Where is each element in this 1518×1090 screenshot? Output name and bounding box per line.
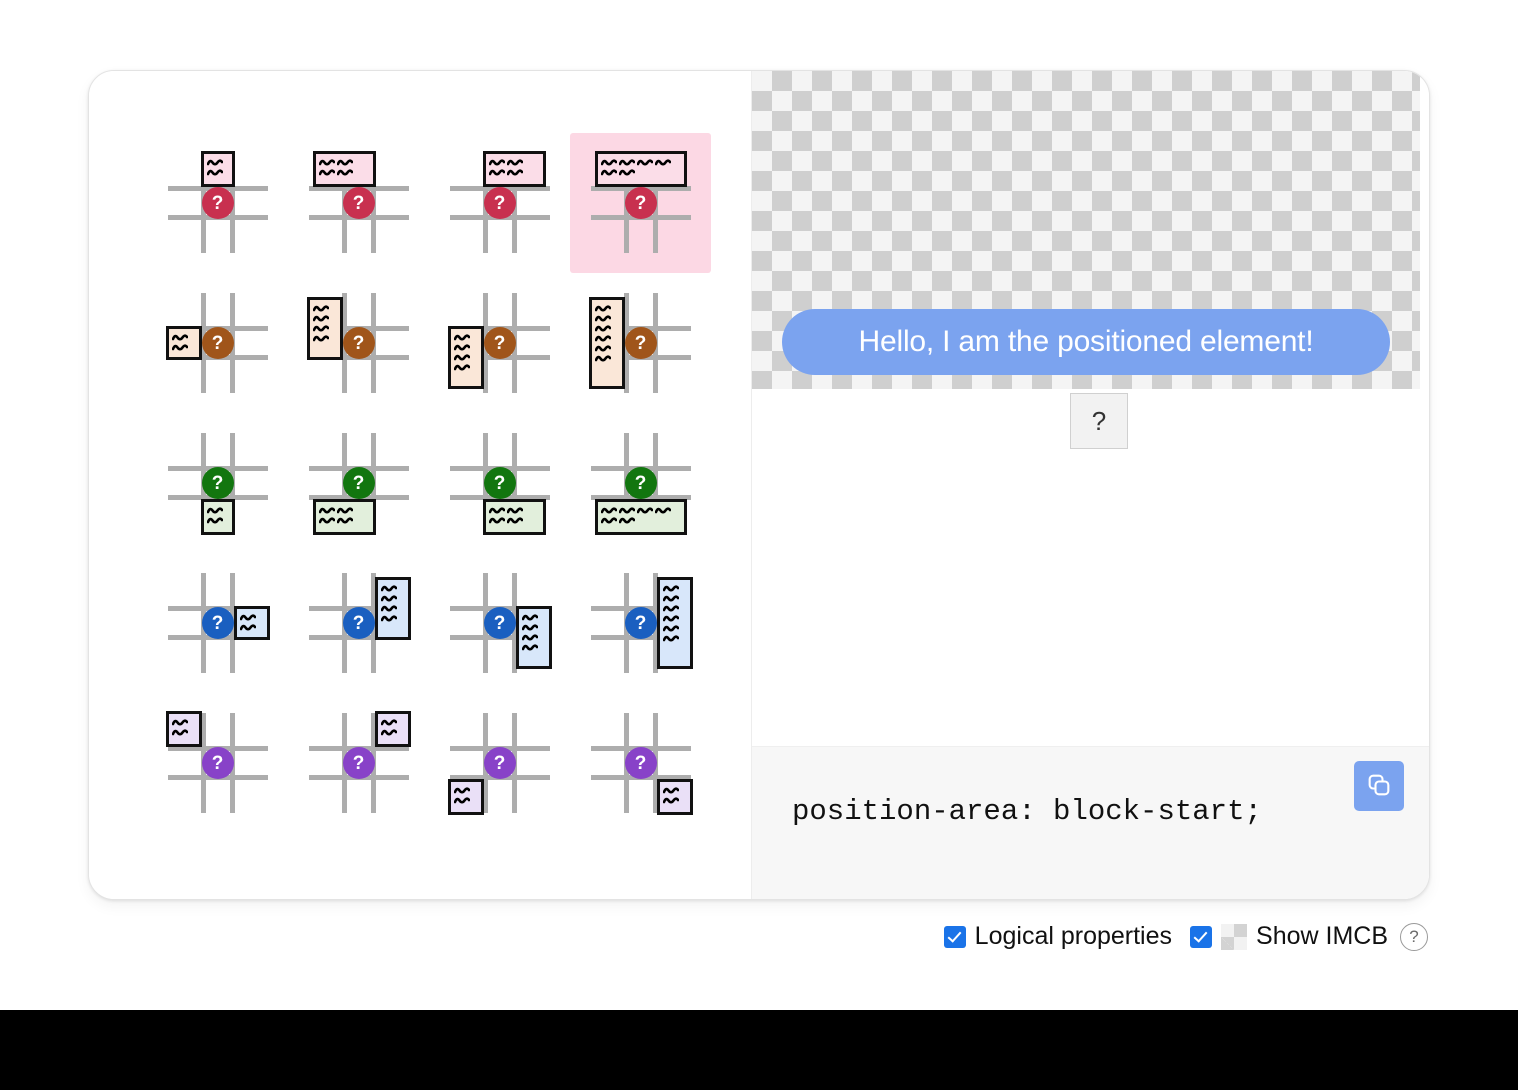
squiggle-icon xyxy=(454,786,470,795)
positioned-box-preview xyxy=(448,779,484,815)
anchor-dot-icon: ? xyxy=(343,467,375,499)
squiggle-icon xyxy=(381,614,397,623)
anchor-dot-icon: ? xyxy=(202,747,234,779)
anchor-dot-icon: ? xyxy=(625,747,657,779)
app-root: ???????????????????? Hello, I am the pos… xyxy=(0,0,1518,1090)
squiggle-icon xyxy=(601,168,617,177)
squiggle-icon xyxy=(313,304,329,313)
squiggle-icon xyxy=(454,363,470,372)
position-area-option[interactable]: ? xyxy=(288,133,429,273)
anchor-dot-icon: ? xyxy=(343,747,375,779)
squiggle-icon xyxy=(601,516,617,525)
position-area-diagram: ? xyxy=(450,293,550,393)
position-area-diagram: ? xyxy=(309,433,409,533)
position-area-diagram: ? xyxy=(591,713,691,813)
squiggle-icon xyxy=(619,516,635,525)
positioned-box-preview xyxy=(307,297,343,360)
positioned-box-preview xyxy=(595,151,687,187)
squiggle-icon xyxy=(595,334,611,343)
squiggle-icon xyxy=(207,506,223,515)
position-area-option[interactable]: ? xyxy=(147,413,288,553)
position-area-option[interactable]: ? xyxy=(570,133,711,273)
squiggle-icon xyxy=(454,353,470,362)
squiggle-icon xyxy=(619,506,635,515)
squiggle-icon xyxy=(595,344,611,353)
position-area-diagram: ? xyxy=(309,573,409,673)
position-area-option[interactable]: ? xyxy=(288,553,429,693)
squiggle-icon xyxy=(207,158,223,167)
squiggle-icon xyxy=(663,796,679,805)
squiggle-icon xyxy=(522,643,538,652)
squiggle-icon xyxy=(337,158,353,167)
squiggle-icon xyxy=(489,168,505,177)
copy-button[interactable] xyxy=(1354,761,1404,811)
position-area-picker: ???????????????????? xyxy=(89,71,752,899)
squiggle-icon xyxy=(381,604,397,613)
footer-controls: Logical properties Show IMCB ? xyxy=(0,922,1428,951)
position-area-diagram: ? xyxy=(591,433,691,533)
anchor-dot-icon: ? xyxy=(625,327,657,359)
anchor-dot-icon: ? xyxy=(202,607,234,639)
squiggle-icon xyxy=(619,168,635,177)
position-area-option[interactable]: ? xyxy=(147,553,288,693)
positioned-box-preview xyxy=(483,499,546,535)
positioned-box-preview xyxy=(375,577,411,640)
show-imcb-label: Show IMCB xyxy=(1256,922,1388,951)
position-area-option[interactable]: ? xyxy=(570,413,711,553)
anchor-dot-icon: ? xyxy=(343,607,375,639)
positioned-box-preview xyxy=(589,297,625,389)
code-output-area: position-area: block-start; xyxy=(752,746,1430,899)
positioned-box-preview xyxy=(166,711,202,747)
positioned-box-preview xyxy=(166,326,202,360)
squiggle-icon xyxy=(172,343,188,352)
position-area-diagram: ? xyxy=(309,293,409,393)
squiggle-icon xyxy=(663,614,679,623)
screen-bottom-bar xyxy=(0,1010,1518,1090)
position-area-diagram: ? xyxy=(450,713,550,813)
positioned-box-preview xyxy=(313,151,376,187)
positioned-box-preview xyxy=(595,499,687,535)
show-imcb-control[interactable]: Show IMCB xyxy=(1190,922,1388,951)
squiggle-icon xyxy=(601,506,617,515)
position-area-option[interactable]: ? xyxy=(429,133,570,273)
squiggle-icon xyxy=(601,158,617,167)
squiggle-icon xyxy=(337,506,353,515)
squiggle-icon xyxy=(489,516,505,525)
squiggle-icon xyxy=(337,168,353,177)
squiggle-icon xyxy=(313,314,329,323)
position-area-option[interactable]: ? xyxy=(429,273,570,413)
code-snippet: position-area: block-start; xyxy=(792,795,1262,828)
position-area-diagram: ? xyxy=(309,153,409,253)
squiggle-icon xyxy=(489,506,505,515)
position-area-option[interactable]: ? xyxy=(429,553,570,693)
squiggle-icon xyxy=(522,623,538,632)
anchor-dot-icon: ? xyxy=(202,327,234,359)
squiggle-icon xyxy=(319,506,335,515)
squiggle-icon xyxy=(522,613,538,622)
position-area-diagram: ? xyxy=(309,713,409,813)
squiggle-icon xyxy=(319,168,335,177)
position-area-grid: ???????????????????? xyxy=(147,133,711,833)
squiggle-icon xyxy=(337,516,353,525)
squiggle-icon xyxy=(637,158,653,167)
squiggle-icon xyxy=(313,334,329,343)
squiggle-icon xyxy=(619,158,635,167)
squiggle-icon xyxy=(655,506,671,515)
position-area-diagram: ? xyxy=(591,573,691,673)
position-area-option[interactable]: ? xyxy=(147,133,288,273)
squiggle-icon xyxy=(454,333,470,342)
logical-properties-checkbox[interactable] xyxy=(944,926,966,948)
anchor-dot-icon: ? xyxy=(484,747,516,779)
squiggle-icon xyxy=(663,634,679,643)
positioned-box-preview xyxy=(448,326,484,389)
squiggle-icon xyxy=(319,158,335,167)
squiggle-icon xyxy=(454,796,470,805)
anchor-dot-icon: ? xyxy=(202,467,234,499)
positioned-box-preview xyxy=(201,499,235,535)
position-area-diagram: ? xyxy=(168,153,268,253)
positioned-box-preview xyxy=(483,151,546,187)
anchor-dot-icon: ? xyxy=(625,187,657,219)
positioned-box-preview xyxy=(657,779,693,815)
squiggle-icon xyxy=(207,516,223,525)
anchor-dot-icon: ? xyxy=(484,607,516,639)
squiggle-icon xyxy=(313,324,329,333)
preview-and-code-panel: Hello, I am the positioned element! ? po… xyxy=(752,71,1429,899)
checkerboard-swatch-icon xyxy=(1221,924,1247,950)
copy-icon xyxy=(1365,771,1393,802)
squiggle-icon xyxy=(172,728,188,737)
position-area-option[interactable]: ? xyxy=(570,693,711,833)
squiggle-icon xyxy=(507,516,523,525)
anchor-element[interactable]: ? xyxy=(1070,393,1128,449)
anchor-dot-icon: ? xyxy=(625,467,657,499)
positioned-box-preview xyxy=(516,606,552,669)
visualizer-card: ???????????????????? Hello, I am the pos… xyxy=(88,70,1430,900)
position-area-diagram: ? xyxy=(168,293,268,393)
positioned-element: Hello, I am the positioned element! xyxy=(782,309,1390,375)
squiggle-icon xyxy=(663,594,679,603)
logical-properties-control[interactable]: Logical properties xyxy=(944,922,1172,951)
anchor-dot-icon: ? xyxy=(202,187,234,219)
positioned-box-preview xyxy=(234,606,270,640)
position-area-option[interactable]: ? xyxy=(570,273,711,413)
squiggle-icon xyxy=(240,623,256,632)
help-circle-icon[interactable]: ? xyxy=(1400,923,1428,951)
squiggle-icon xyxy=(381,594,397,603)
show-imcb-checkbox[interactable] xyxy=(1190,926,1212,948)
squiggle-icon xyxy=(595,304,611,313)
squiggle-icon xyxy=(507,506,523,515)
squiggle-icon xyxy=(207,168,223,177)
squiggle-icon xyxy=(663,624,679,633)
squiggle-icon xyxy=(522,633,538,642)
position-area-diagram: ? xyxy=(591,293,691,393)
squiggle-icon xyxy=(172,718,188,727)
squiggle-icon xyxy=(663,584,679,593)
squiggle-icon xyxy=(489,158,505,167)
squiggle-icon xyxy=(595,324,611,333)
position-area-option[interactable]: ? xyxy=(429,413,570,553)
squiggle-icon xyxy=(663,786,679,795)
squiggle-icon xyxy=(595,314,611,323)
position-area-diagram: ? xyxy=(450,153,550,253)
squiggle-icon xyxy=(319,516,335,525)
position-area-diagram: ? xyxy=(450,433,550,533)
squiggle-icon xyxy=(381,584,397,593)
anchor-dot-icon: ? xyxy=(343,327,375,359)
positioned-box-preview xyxy=(657,577,693,669)
squiggle-icon xyxy=(454,343,470,352)
position-area-option[interactable]: ? xyxy=(288,273,429,413)
logical-properties-label: Logical properties xyxy=(975,922,1172,951)
position-area-diagram: ? xyxy=(450,573,550,673)
squiggle-icon xyxy=(663,604,679,613)
position-area-option[interactable]: ? xyxy=(147,273,288,413)
position-area-option[interactable]: ? xyxy=(570,553,711,693)
positioned-box-preview xyxy=(313,499,376,535)
anchor-dot-icon: ? xyxy=(343,187,375,219)
anchor-dot-icon: ? xyxy=(484,187,516,219)
position-area-diagram: ? xyxy=(168,573,268,673)
squiggle-icon xyxy=(507,168,523,177)
position-area-option[interactable]: ? xyxy=(429,693,570,833)
squiggle-icon xyxy=(381,718,397,727)
position-area-diagram: ? xyxy=(168,433,268,533)
squiggle-icon xyxy=(240,613,256,622)
position-area-option[interactable]: ? xyxy=(288,413,429,553)
squiggle-icon xyxy=(595,354,611,363)
anchor-dot-icon: ? xyxy=(484,327,516,359)
positioned-box-preview xyxy=(201,151,235,187)
squiggle-icon xyxy=(381,728,397,737)
position-area-diagram: ? xyxy=(591,153,691,253)
squiggle-icon xyxy=(172,333,188,342)
squiggle-icon xyxy=(655,158,671,167)
anchor-dot-icon: ? xyxy=(625,607,657,639)
squiggle-icon xyxy=(637,506,653,515)
squiggle-icon xyxy=(507,158,523,167)
position-area-option[interactable]: ? xyxy=(288,693,429,833)
positioned-box-preview xyxy=(375,711,411,747)
position-area-diagram: ? xyxy=(168,713,268,813)
position-area-option[interactable]: ? xyxy=(147,693,288,833)
anchor-dot-icon: ? xyxy=(484,467,516,499)
